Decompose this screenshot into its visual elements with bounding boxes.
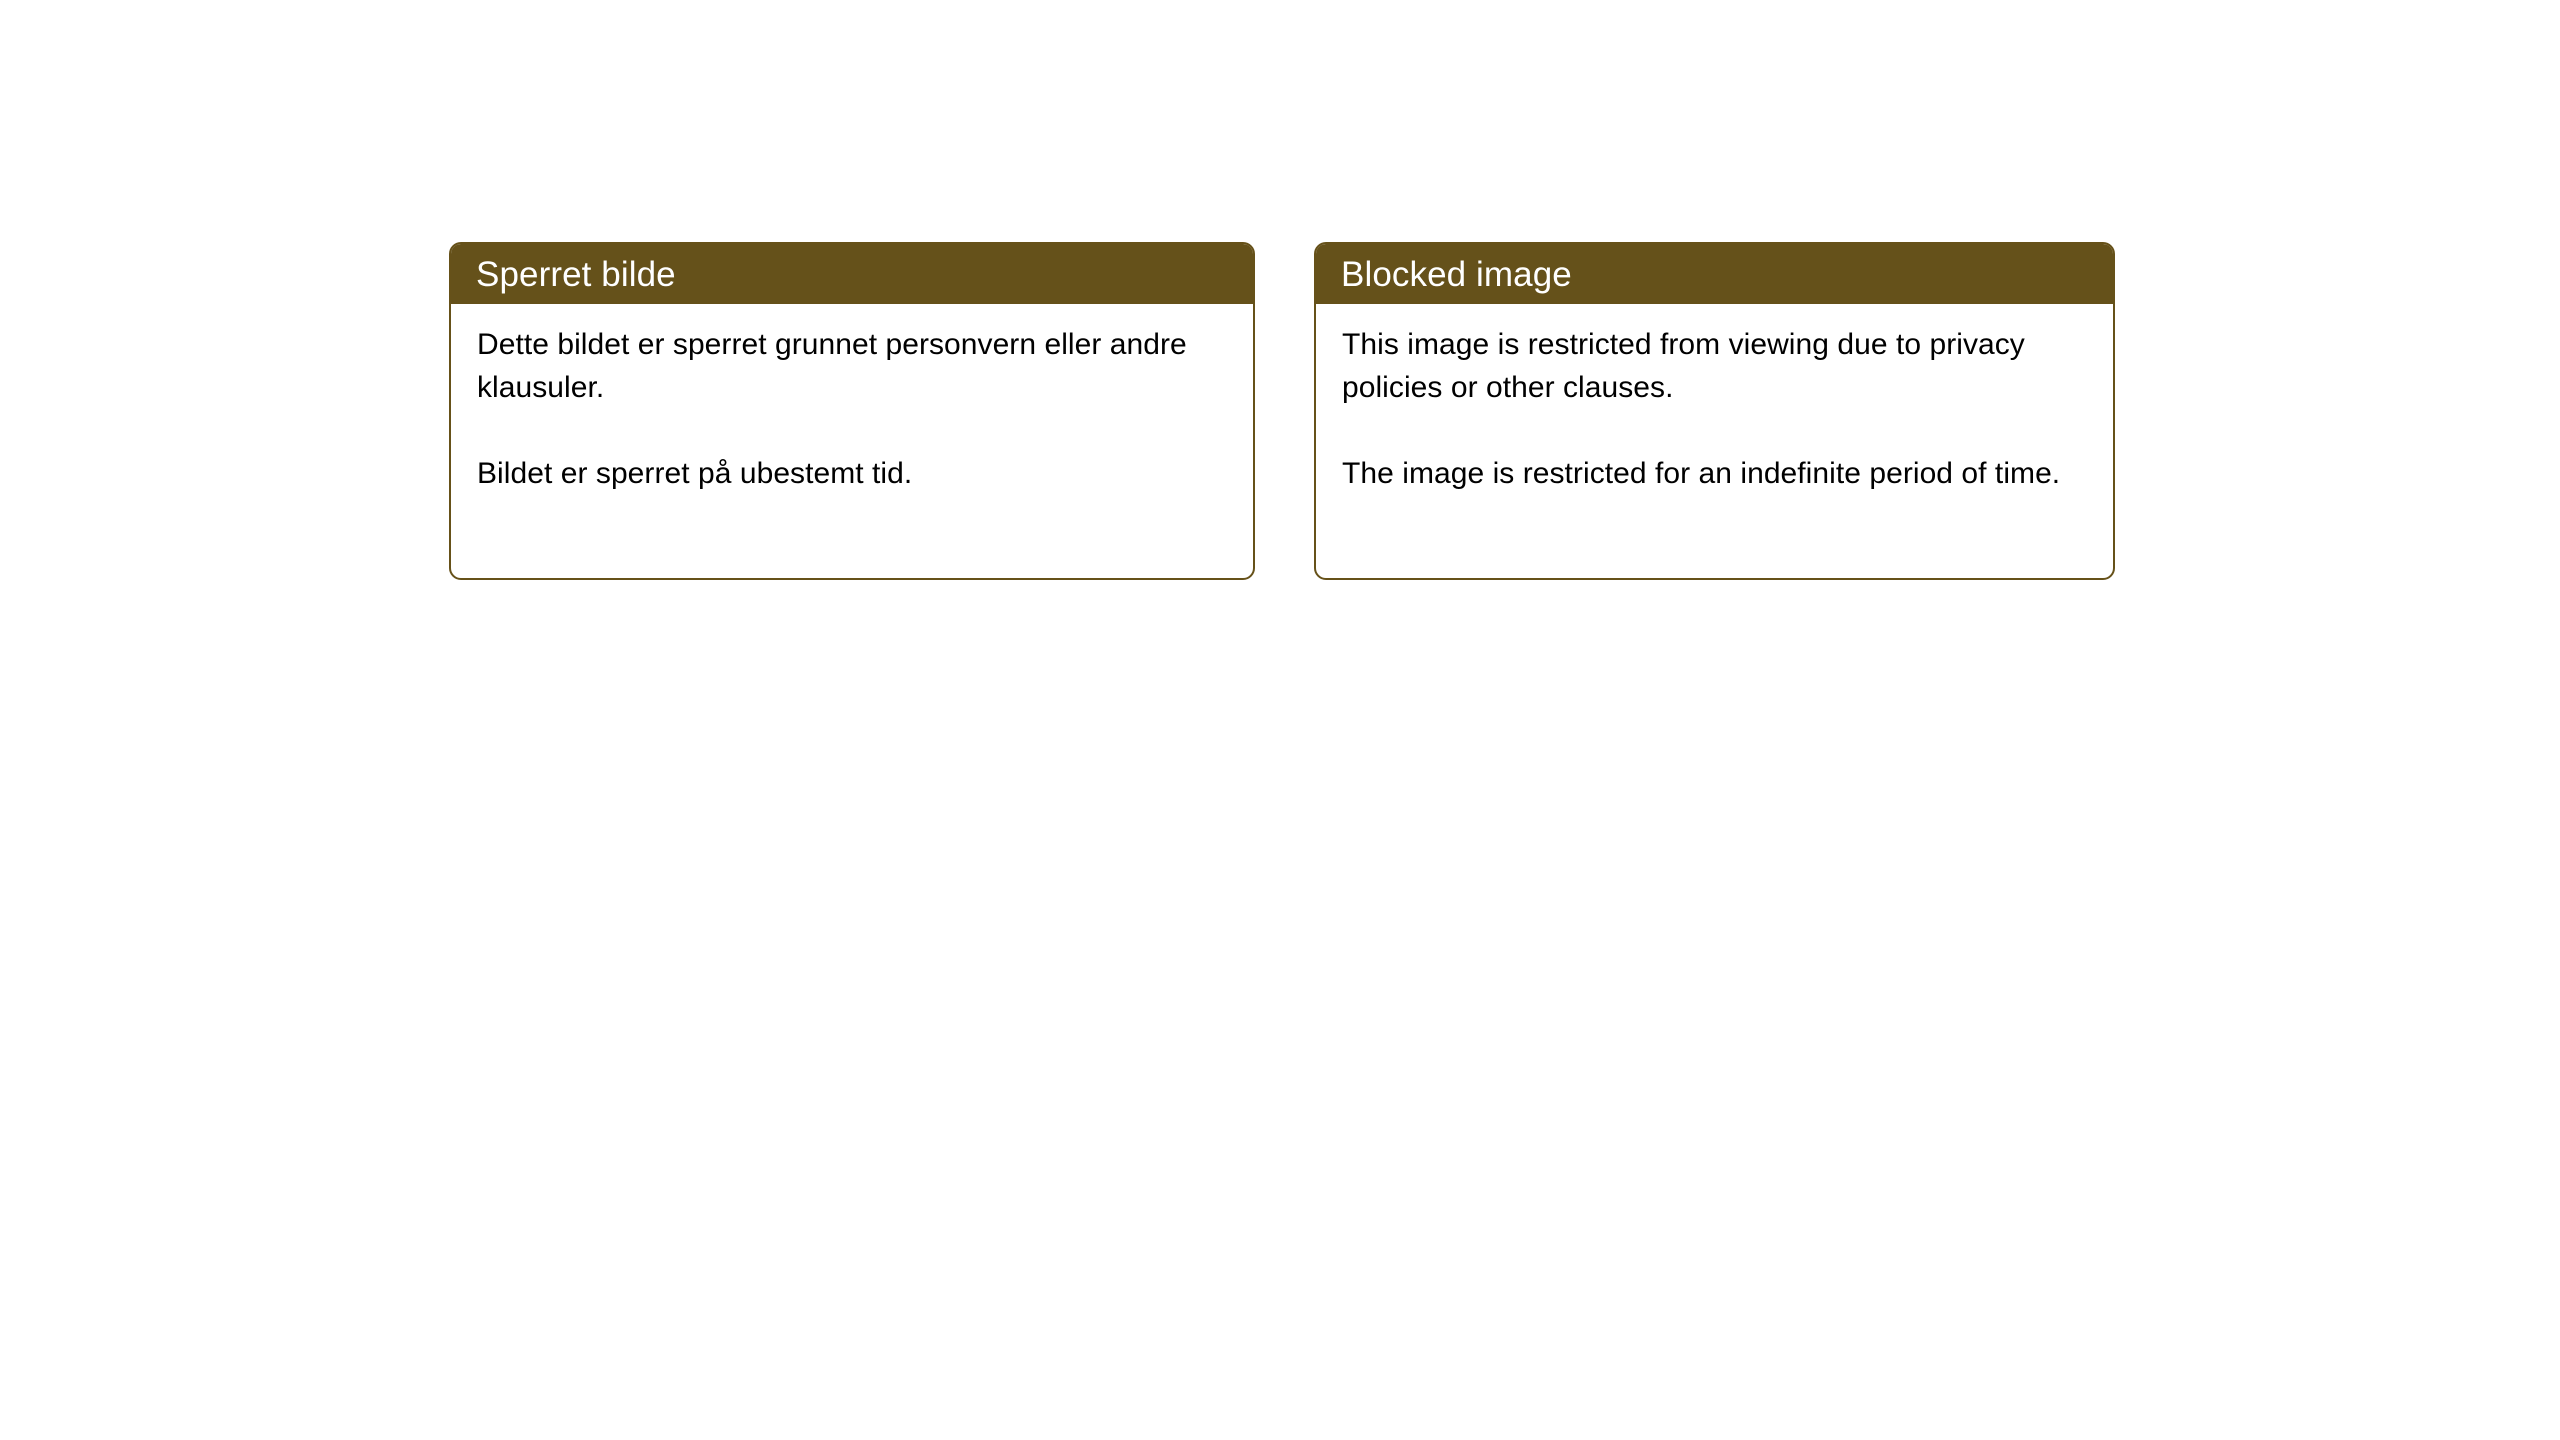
notice-paragraph-reason-english: This image is restricted from viewing du…: [1342, 323, 2089, 409]
panel-body-norwegian: Dette bildet er sperret grunnet personve…: [451, 304, 1253, 578]
notice-paragraph-reason-norwegian: Dette bildet er sperret grunnet personve…: [477, 323, 1229, 409]
blocked-image-notice-panel-norwegian: Sperret bilde Dette bildet er sperret gr…: [449, 242, 1255, 580]
notice-paragraph-duration-norwegian: Bildet er sperret på ubestemt tid.: [477, 452, 1229, 495]
notice-paragraph-duration-english: The image is restricted for an indefinit…: [1342, 452, 2089, 495]
page-background: Sperret bilde Dette bildet er sperret gr…: [0, 0, 2560, 1440]
panel-title-english: Blocked image: [1341, 257, 1572, 292]
panel-body-english: This image is restricted from viewing du…: [1316, 304, 2113, 578]
panel-title-norwegian: Sperret bilde: [476, 257, 676, 292]
blocked-image-notice-panel-english: Blocked image This image is restricted f…: [1314, 242, 2115, 580]
panel-header-english: Blocked image: [1316, 244, 2113, 304]
panel-header-norwegian: Sperret bilde: [451, 244, 1253, 304]
